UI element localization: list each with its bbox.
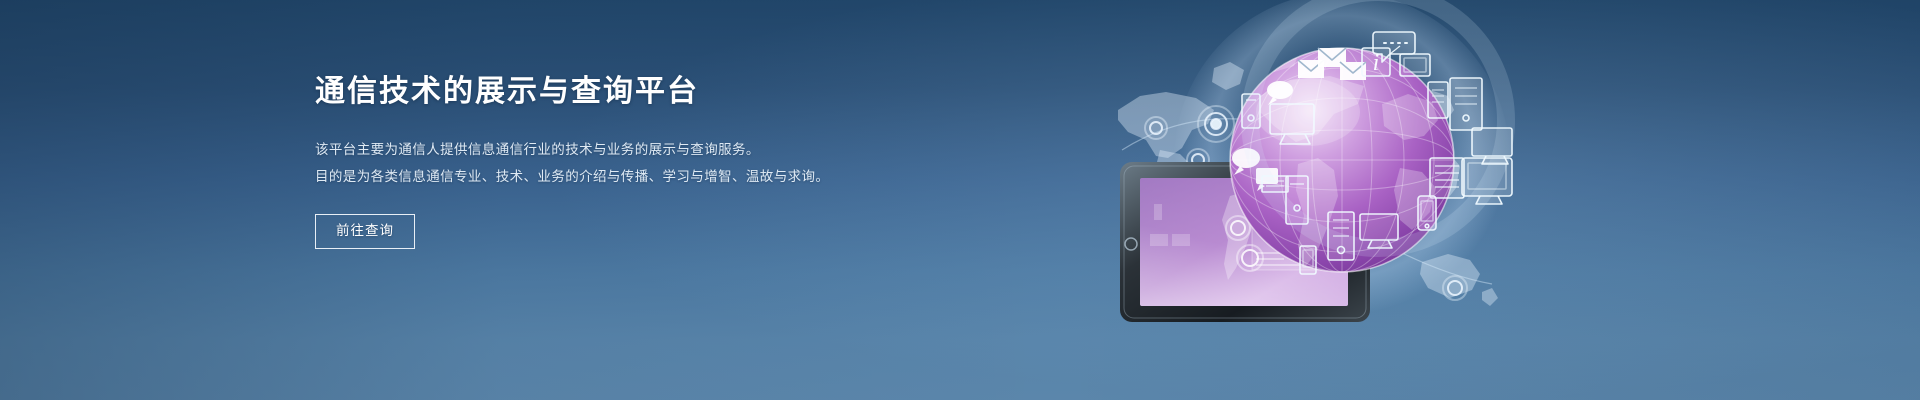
svg-text:i: i — [1373, 50, 1380, 76]
hero-subtext-line-2: 目的是为各类信息通信专业、技术、业务的介绍与传播、学习与增智、温故与求询。 — [315, 163, 935, 190]
hero-content: 通信技术的展示与查询平台 该平台主要为通信人提供信息通信行业的技术与业务的展示与… — [315, 72, 935, 249]
hero-banner: i — [0, 0, 1920, 400]
hero-artwork: i — [1110, 0, 1530, 400]
background-vignette — [0, 0, 1920, 400]
go-to-query-button[interactable]: 前往查询 — [315, 214, 415, 249]
hero-subtext-line-1: 该平台主要为通信人提供信息通信行业的技术与业务的展示与查询服务。 — [315, 136, 935, 163]
page-title: 通信技术的展示与查询平台 — [315, 72, 935, 112]
hero-subtext: 该平台主要为通信人提供信息通信行业的技术与业务的展示与查询服务。 目的是为各类信… — [315, 136, 935, 190]
